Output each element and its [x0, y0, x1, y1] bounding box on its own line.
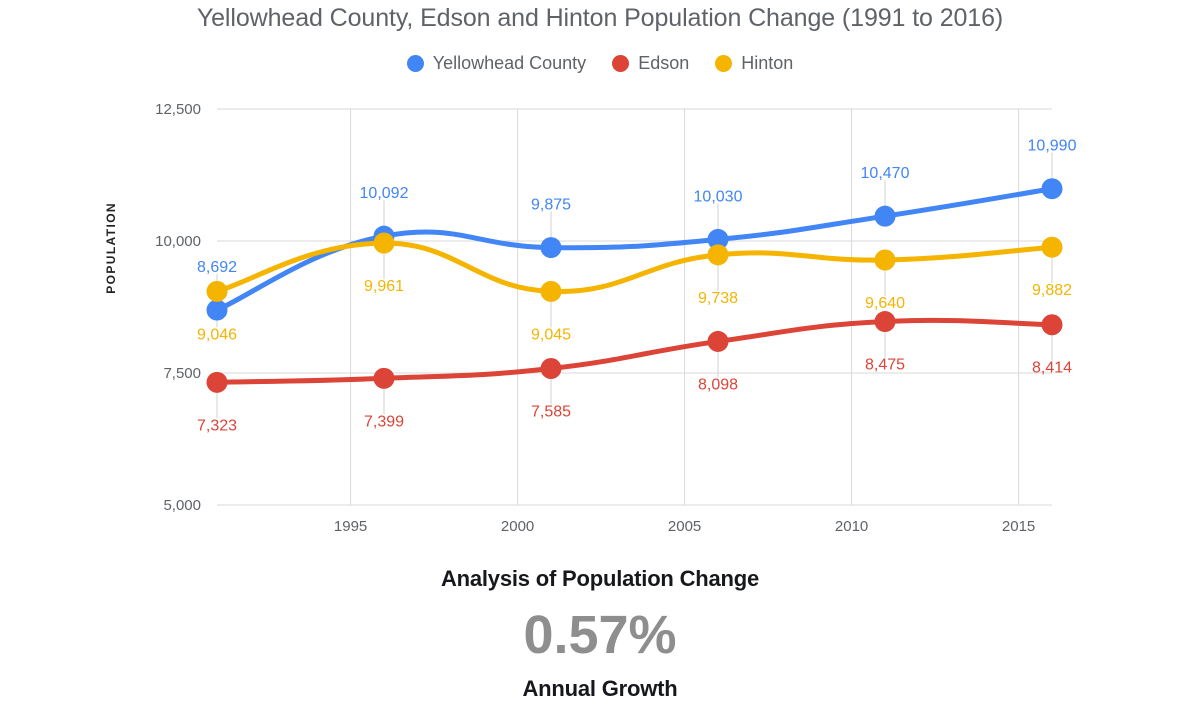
- x-axis-tick-label: 2010: [835, 518, 868, 535]
- data-point-value-label: 10,030: [694, 188, 743, 205]
- data-point-marker[interactable]: [1042, 314, 1063, 335]
- data-point-value-label: 9,738: [698, 290, 738, 307]
- data-point-marker[interactable]: [875, 250, 896, 271]
- data-point-value-label: 9,882: [1032, 282, 1072, 299]
- y-axis-tick-label: 7,500: [163, 365, 201, 382]
- data-point-marker[interactable]: [207, 300, 228, 321]
- data-point-value-label: 7,399: [364, 413, 404, 430]
- data-point-value-label: 8,414: [1032, 360, 1072, 377]
- data-point-value-label: 7,585: [531, 404, 571, 421]
- data-point-marker[interactable]: [541, 237, 562, 258]
- data-point-marker[interactable]: [207, 372, 228, 393]
- analysis-figure: 0.57%: [0, 608, 1200, 662]
- x-axis-tick-label: 2015: [1002, 518, 1035, 535]
- x-axis-tick-label: 1995: [334, 518, 367, 535]
- data-point-value-label: 10,470: [861, 165, 910, 182]
- data-point-value-label: 9,640: [865, 295, 905, 312]
- data-point-value-label: 9,045: [531, 326, 571, 343]
- data-point-marker[interactable]: [1042, 178, 1063, 199]
- data-point-marker[interactable]: [374, 233, 395, 254]
- chart-page: Yellowhead County, Edson and Hinton Popu…: [0, 0, 1200, 728]
- x-axis-tick-label: 2000: [501, 518, 534, 535]
- x-axis-tick-label: 2005: [668, 518, 701, 535]
- data-point-marker[interactable]: [541, 281, 562, 302]
- data-point-marker[interactable]: [1042, 237, 1063, 258]
- data-point-value-label: 7,323: [197, 417, 237, 434]
- data-point-marker[interactable]: [875, 206, 896, 227]
- analysis-caption: Annual Growth: [0, 676, 1200, 702]
- data-point-value-label: 8,098: [698, 376, 738, 393]
- data-point-value-label: 9,046: [197, 326, 237, 343]
- data-point-marker[interactable]: [374, 368, 395, 389]
- data-point-marker[interactable]: [541, 358, 562, 379]
- data-point-marker[interactable]: [207, 281, 228, 302]
- series-line[interactable]: [217, 243, 1052, 292]
- y-axis-tick-label: 12,500: [155, 101, 201, 118]
- data-point-marker[interactable]: [708, 244, 729, 265]
- y-axis-tick-label: 10,000: [155, 233, 201, 250]
- data-point-value-label: 9,875: [531, 197, 571, 214]
- data-point-value-label: 9,961: [364, 278, 404, 295]
- data-point-marker[interactable]: [708, 331, 729, 352]
- analysis-block: Analysis of Population Change 0.57% Annu…: [0, 566, 1200, 702]
- data-point-value-label: 8,692: [197, 259, 237, 276]
- data-point-value-label: 10,990: [1028, 138, 1077, 155]
- y-axis-tick-label: 5,000: [163, 497, 201, 514]
- analysis-heading: Analysis of Population Change: [0, 566, 1200, 592]
- data-point-value-label: 10,092: [360, 185, 409, 202]
- data-point-value-label: 8,475: [865, 357, 905, 374]
- line-chart-plot: 5,0007,50010,00012,500199520002005201020…: [0, 0, 1200, 560]
- data-point-marker[interactable]: [875, 311, 896, 332]
